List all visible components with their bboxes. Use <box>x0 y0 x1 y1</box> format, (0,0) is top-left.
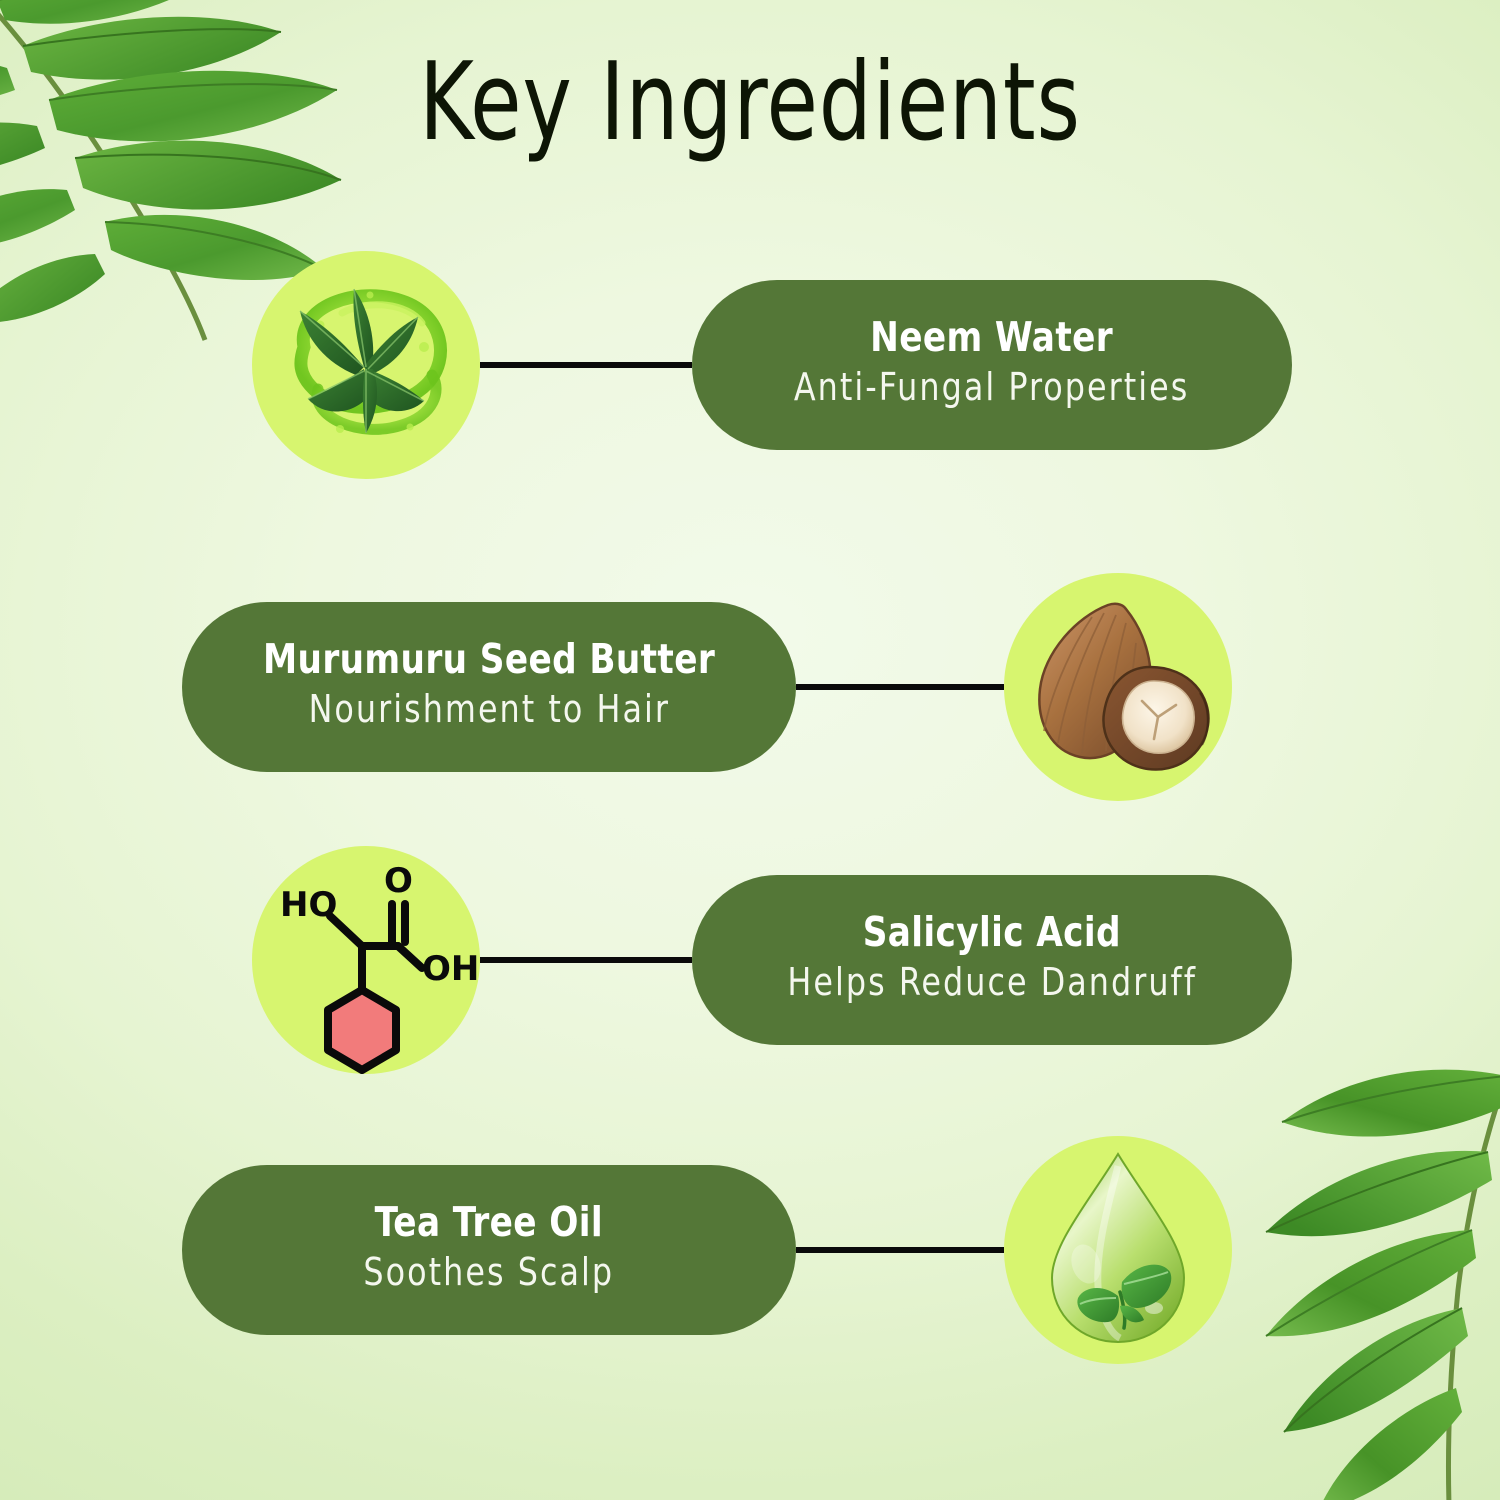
ingredient-pill-tea-tree-oil[interactable]: Tea Tree Oil Soothes Scalp <box>182 1165 796 1335</box>
label-O: O <box>384 861 413 901</box>
ingredient-benefit: Helps Reduce Dandruff <box>787 960 1197 1005</box>
ingredient-name: Neem Water <box>871 315 1114 361</box>
ingredient-row-salicylic-acid: HO O OH Salicylic Acid Helps Reduce Dand… <box>0 845 1500 1075</box>
label-OH: OH <box>422 949 479 989</box>
ingredient-benefit: Soothes Scalp <box>364 1250 615 1295</box>
ingredient-row-murumuru-seed-butter: Murumuru Seed Butter Nourishment to Hair <box>0 572 1500 802</box>
connector-line-tea-tree-oil <box>796 1247 1004 1253</box>
ingredient-benefit: Anti-Fungal Properties <box>794 365 1189 410</box>
murumuru-nut-icon <box>1004 573 1232 801</box>
ingredient-name: Salicylic Acid <box>863 910 1121 956</box>
molecule-labels: HO O OH <box>280 861 479 989</box>
ingredient-pill-salicylic-acid[interactable]: Salicylic Acid Helps Reduce Dandruff <box>692 875 1292 1045</box>
ingredient-name: Murumuru Seed Butter <box>263 637 715 683</box>
page-title: Key Ingredients <box>105 46 1395 160</box>
label-HO: HO <box>280 885 337 925</box>
ingredient-pill-murumuru-seed-butter[interactable]: Murumuru Seed Butter Nourishment to Hair <box>182 602 796 772</box>
connector-line-neem-water <box>480 362 692 368</box>
ingredient-row-tea-tree-oil: Tea Tree Oil Soothes Scalp <box>0 1135 1500 1365</box>
halved-nut <box>1103 667 1208 770</box>
salicylic-acid-molecule-icon: HO O OH <box>252 846 480 1074</box>
molecule-bonds <box>330 904 422 990</box>
oil-droplet <box>1052 1154 1184 1342</box>
ingredient-benefit: Nourishment to Hair <box>308 687 669 732</box>
key-ingredients-poster: Key Ingredients <box>0 0 1500 1500</box>
ingredient-name: Tea Tree Oil <box>375 1200 603 1246</box>
ingredient-row-neem-water: Neem Water Anti-Fungal Properties <box>0 250 1500 480</box>
connector-line-murumuru-seed-butter <box>796 684 1004 690</box>
connector-line-salicylic-acid <box>480 957 692 963</box>
benzene-ring <box>328 990 396 1070</box>
neem-leaves-water-icon <box>252 251 480 479</box>
ingredient-pill-neem-water[interactable]: Neem Water Anti-Fungal Properties <box>692 280 1292 450</box>
oil-droplet-mint-icon <box>1004 1136 1232 1364</box>
